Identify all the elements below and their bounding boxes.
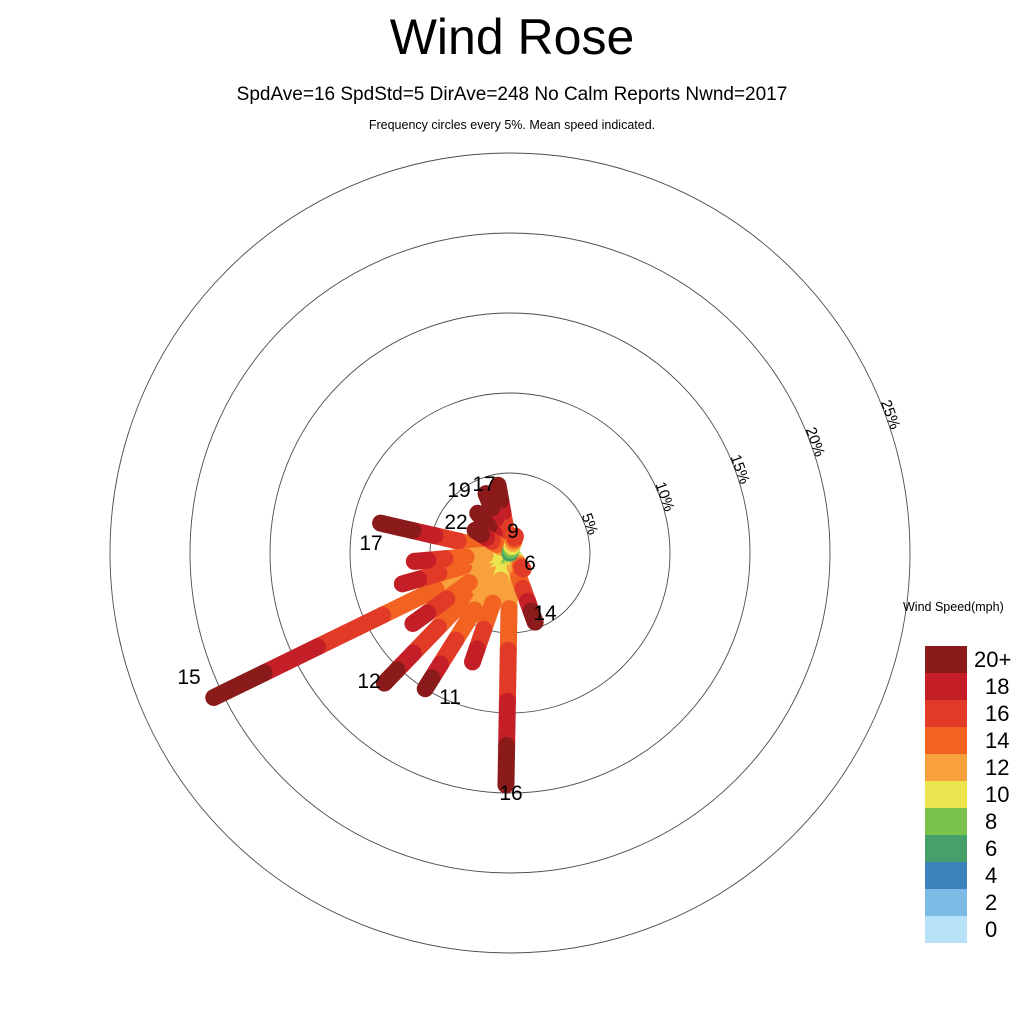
radial-tick-label: 5%	[578, 511, 601, 537]
legend-row[interactable]: 8	[925, 808, 1024, 835]
legend-row[interactable]: 2	[925, 889, 1024, 916]
petal-mean-speed-label: 17	[472, 473, 495, 496]
legend-label: 0	[967, 916, 1024, 943]
legend-color-swatch	[925, 862, 967, 889]
legend-color-swatch	[925, 808, 967, 835]
legend-label: 14	[967, 727, 1024, 754]
petal-segment	[506, 746, 507, 785]
radial-tick-label: 15%	[727, 452, 753, 486]
legend-title: Wind Speed(mph)	[903, 600, 1023, 614]
legend-row[interactable]: 4	[925, 862, 1024, 889]
petal-segment	[522, 568, 523, 570]
petal-mean-speed-label: 15	[177, 666, 200, 689]
petal-mean-speed-label: 22	[444, 511, 467, 534]
radial-tick-label: 20%	[802, 425, 828, 459]
petal-segment	[402, 579, 418, 584]
legend-color-swatch	[925, 889, 967, 916]
legend-row[interactable]: 20+	[925, 646, 1024, 673]
petal-mean-speed-label: 14	[533, 602, 557, 625]
legend-row[interactable]: 18	[925, 673, 1024, 700]
wind-rose-plot: 5%10%15%20%25% 15161211171417192269	[0, 0, 1024, 1024]
petal-mean-speed-label: 16	[499, 782, 522, 805]
petal-segment	[384, 670, 397, 683]
legend-color-swatch	[925, 835, 967, 862]
radial-tick-labels: 5%10%15%20%25%	[578, 398, 904, 538]
petal-segment	[264, 647, 317, 673]
petal-segment	[472, 649, 477, 662]
petal-segment	[413, 613, 428, 624]
petal-mean-speed-label: 9	[507, 520, 519, 543]
legend-label: 20+	[967, 646, 1022, 673]
petal-mean-speed-label: 11	[439, 686, 461, 709]
legend-label: 16	[967, 700, 1024, 727]
legend-color-swatch	[925, 916, 967, 943]
legend-row[interactable]: 0	[925, 916, 1024, 943]
petal-segment	[425, 678, 432, 689]
legend-color-swatch	[925, 673, 967, 700]
legend-row[interactable]: 10	[925, 781, 1024, 808]
legend-label: 6	[967, 835, 1024, 862]
legend-color-swatch	[925, 727, 967, 754]
legend-label: 12	[967, 754, 1024, 781]
petal-mean-speed-label: 17	[359, 532, 382, 555]
legend-label: 8	[967, 808, 1024, 835]
petal-mean-speed-label: 19	[447, 479, 470, 502]
wind-petals	[214, 485, 535, 785]
legend-label: 2	[967, 889, 1024, 916]
petal-mean-speed-label: 6	[524, 552, 536, 575]
petal-mean-speed-label: 12	[357, 670, 380, 693]
petal-segment	[498, 485, 501, 500]
legend: Wind Speed(mph) 20+181614121086420	[903, 600, 1023, 614]
petal-segment	[475, 530, 481, 534]
legend-label: 18	[967, 673, 1024, 700]
petal-segment	[414, 560, 427, 561]
petal-segment	[381, 523, 413, 530]
legend-row[interactable]: 6	[925, 835, 1024, 862]
legend-row[interactable]: 12	[925, 754, 1024, 781]
legend-row[interactable]: 14	[925, 727, 1024, 754]
legend-color-swatch	[925, 781, 967, 808]
legend-color-swatch	[925, 646, 967, 673]
legend-color-swatch	[925, 700, 967, 727]
legend-label: 4	[967, 862, 1024, 889]
legend-color-swatch	[925, 754, 967, 781]
petal-segment	[317, 615, 382, 647]
radial-tick-label: 25%	[877, 398, 903, 432]
legend-label: 10	[967, 781, 1024, 808]
legend-swatch-list: 20+181614121086420	[925, 646, 1024, 943]
legend-row[interactable]: 16	[925, 700, 1024, 727]
radial-tick-label: 10%	[651, 480, 677, 514]
wind-rose-page: Wind Rose SpdAve=16 SpdStd=5 DirAve=248 …	[0, 0, 1024, 1024]
petal-segment	[214, 673, 264, 698]
